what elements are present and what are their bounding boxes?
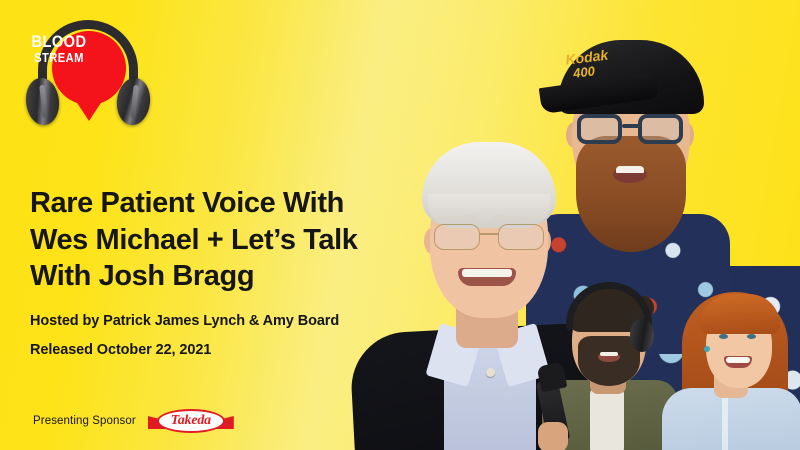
eyeglasses-icon bbox=[570, 114, 694, 144]
headphones-icon bbox=[566, 282, 652, 334]
eyebrow-right bbox=[493, 215, 533, 223]
earring bbox=[704, 346, 710, 352]
release-date-line: Released October 22, 2021 bbox=[30, 342, 390, 358]
collar-left bbox=[425, 323, 482, 387]
face bbox=[706, 304, 772, 388]
ear-left bbox=[424, 228, 440, 254]
beard bbox=[576, 136, 686, 252]
floral-backdrop bbox=[616, 266, 800, 450]
mouth bbox=[598, 352, 620, 362]
hair bbox=[422, 142, 556, 226]
glasses-bridge bbox=[622, 124, 642, 128]
logo-word-blood: BLOOD bbox=[27, 33, 91, 51]
cap-text-line2: 400 bbox=[572, 54, 677, 80]
hair bbox=[568, 286, 650, 332]
neck bbox=[592, 186, 666, 238]
lens-left bbox=[577, 114, 622, 144]
lens-right bbox=[638, 114, 683, 144]
title-line-2: Wes Michael + Let’s Talk bbox=[30, 222, 390, 259]
mouth bbox=[458, 268, 516, 286]
beard bbox=[578, 336, 640, 386]
glasses-bridge bbox=[480, 233, 498, 235]
bloodstream-logo: BLOOD STREAM bbox=[22, 18, 156, 144]
hand bbox=[538, 422, 568, 450]
floral-shirt bbox=[526, 214, 730, 354]
ear-left bbox=[566, 122, 583, 148]
neck bbox=[590, 368, 626, 394]
eyeglasses-icon bbox=[428, 224, 552, 250]
eyebrow-left bbox=[436, 215, 476, 223]
hair-bun bbox=[632, 296, 654, 320]
neck bbox=[456, 296, 518, 348]
episode-text-block: Rare Patient Voice With Wes Michael + Le… bbox=[30, 185, 390, 358]
collar-right bbox=[493, 323, 550, 387]
microphone-icon bbox=[536, 378, 570, 443]
cap-brim bbox=[539, 72, 659, 114]
mouth bbox=[724, 356, 752, 368]
amy-board-portrait bbox=[666, 278, 800, 450]
microphone-head bbox=[537, 362, 568, 393]
sponsor-label: Presenting Sponsor bbox=[33, 415, 136, 427]
lens-left bbox=[434, 224, 480, 250]
hair bbox=[682, 292, 788, 428]
takeda-logo: Takeda bbox=[148, 407, 234, 435]
wes-michael-portrait bbox=[378, 128, 590, 450]
podcast-episode-card: BLOOD STREAM Kodak 400 bbox=[0, 0, 800, 450]
lens-right bbox=[498, 224, 544, 250]
neck bbox=[714, 368, 748, 398]
ear-right bbox=[677, 122, 694, 148]
chambray-shirt bbox=[662, 388, 800, 450]
mouth bbox=[613, 166, 647, 183]
jacket bbox=[542, 380, 678, 450]
face bbox=[572, 60, 690, 208]
hosts-line: Hosted by Patrick James Lynch & Amy Boar… bbox=[30, 313, 390, 329]
eye-right bbox=[747, 334, 756, 339]
sponsor-block: Presenting Sponsor Takeda bbox=[33, 407, 234, 435]
title-line-3: With Josh Bragg bbox=[30, 258, 390, 295]
ear-right bbox=[535, 228, 551, 254]
headphone-cup bbox=[630, 318, 654, 352]
takeda-wordmark: Takeda bbox=[157, 409, 225, 433]
cap-text-line1: Kodak bbox=[565, 47, 609, 68]
hair-front bbox=[700, 294, 780, 334]
eye-left bbox=[719, 334, 728, 339]
cap-logo-text: Kodak 400 bbox=[565, 39, 678, 81]
josh-bragg-portrait: Kodak 400 bbox=[520, 18, 735, 348]
logo-wordmark: BLOOD STREAM bbox=[22, 33, 96, 64]
baseball-cap bbox=[558, 40, 704, 114]
page-title: Rare Patient Voice With Wes Michael + Le… bbox=[30, 185, 390, 295]
logo-word-stream: STREAM bbox=[27, 51, 91, 65]
dress-shirt bbox=[444, 334, 536, 450]
patrick-james-lynch-portrait bbox=[540, 276, 680, 450]
title-line-1: Rare Patient Voice With bbox=[30, 185, 390, 222]
tshirt bbox=[590, 388, 624, 450]
face bbox=[572, 296, 646, 386]
face bbox=[430, 158, 548, 318]
